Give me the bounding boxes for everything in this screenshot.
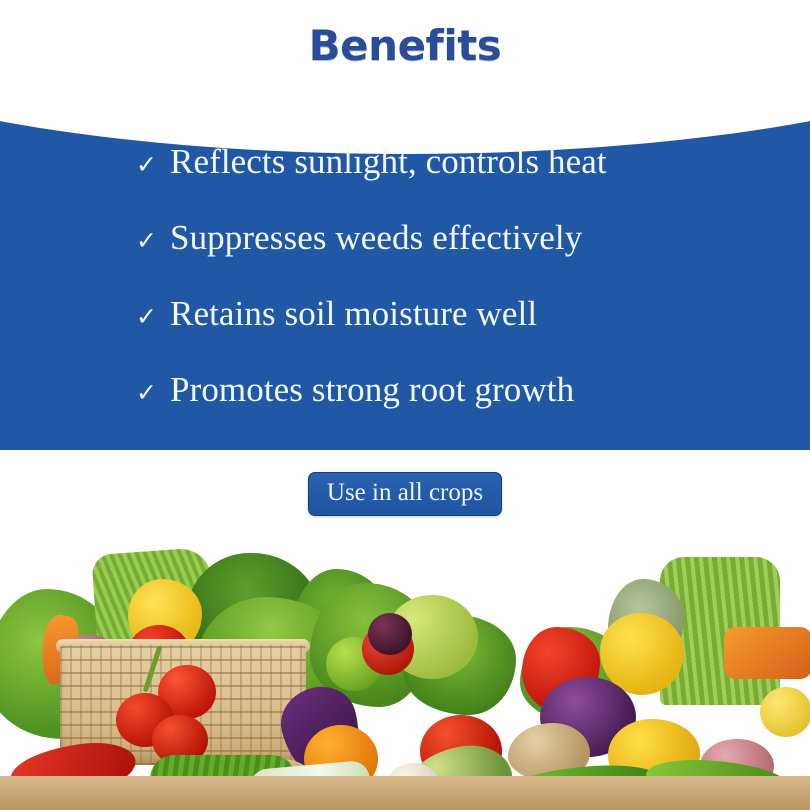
benefit-label: Suppresses weeds effectively <box>170 220 582 255</box>
carrots-right <box>724 627 810 679</box>
benefits-panel: ✓ Reflects sunlight, controls heat ✓ Sup… <box>0 88 810 450</box>
check-icon: ✓ <box>136 304 170 329</box>
benefits-infographic: Benefits ✓ Reflects sunlight, controls h… <box>0 0 810 810</box>
list-item: ✓ Reflects sunlight, controls heat <box>0 144 810 220</box>
benefit-label: Reflects sunlight, controls heat <box>170 144 607 179</box>
list-item: ✓ Suppresses weeds effectively <box>0 220 810 296</box>
use-in-all-crops-badge[interactable]: Use in all crops <box>308 472 502 516</box>
wooden-table-surface <box>0 776 810 810</box>
benefits-list: ✓ Reflects sunlight, controls heat ✓ Sup… <box>0 88 810 450</box>
purple-plum <box>368 613 412 655</box>
list-item: ✓ Retains soil moisture well <box>0 296 810 372</box>
benefit-label: Promotes strong root growth <box>170 372 574 407</box>
check-icon: ✓ <box>136 152 170 177</box>
badge-zone: Use in all crops <box>0 450 810 545</box>
vegetables-photo <box>0 527 810 810</box>
benefit-label: Retains soil moisture well <box>170 296 537 331</box>
check-icon: ✓ <box>136 380 170 405</box>
page-title: Benefits <box>309 25 502 71</box>
list-item: ✓ Promotes strong root growth <box>0 372 810 448</box>
title-band: Benefits <box>0 0 810 96</box>
lemon-wedge <box>760 687 810 737</box>
check-icon: ✓ <box>136 228 170 253</box>
